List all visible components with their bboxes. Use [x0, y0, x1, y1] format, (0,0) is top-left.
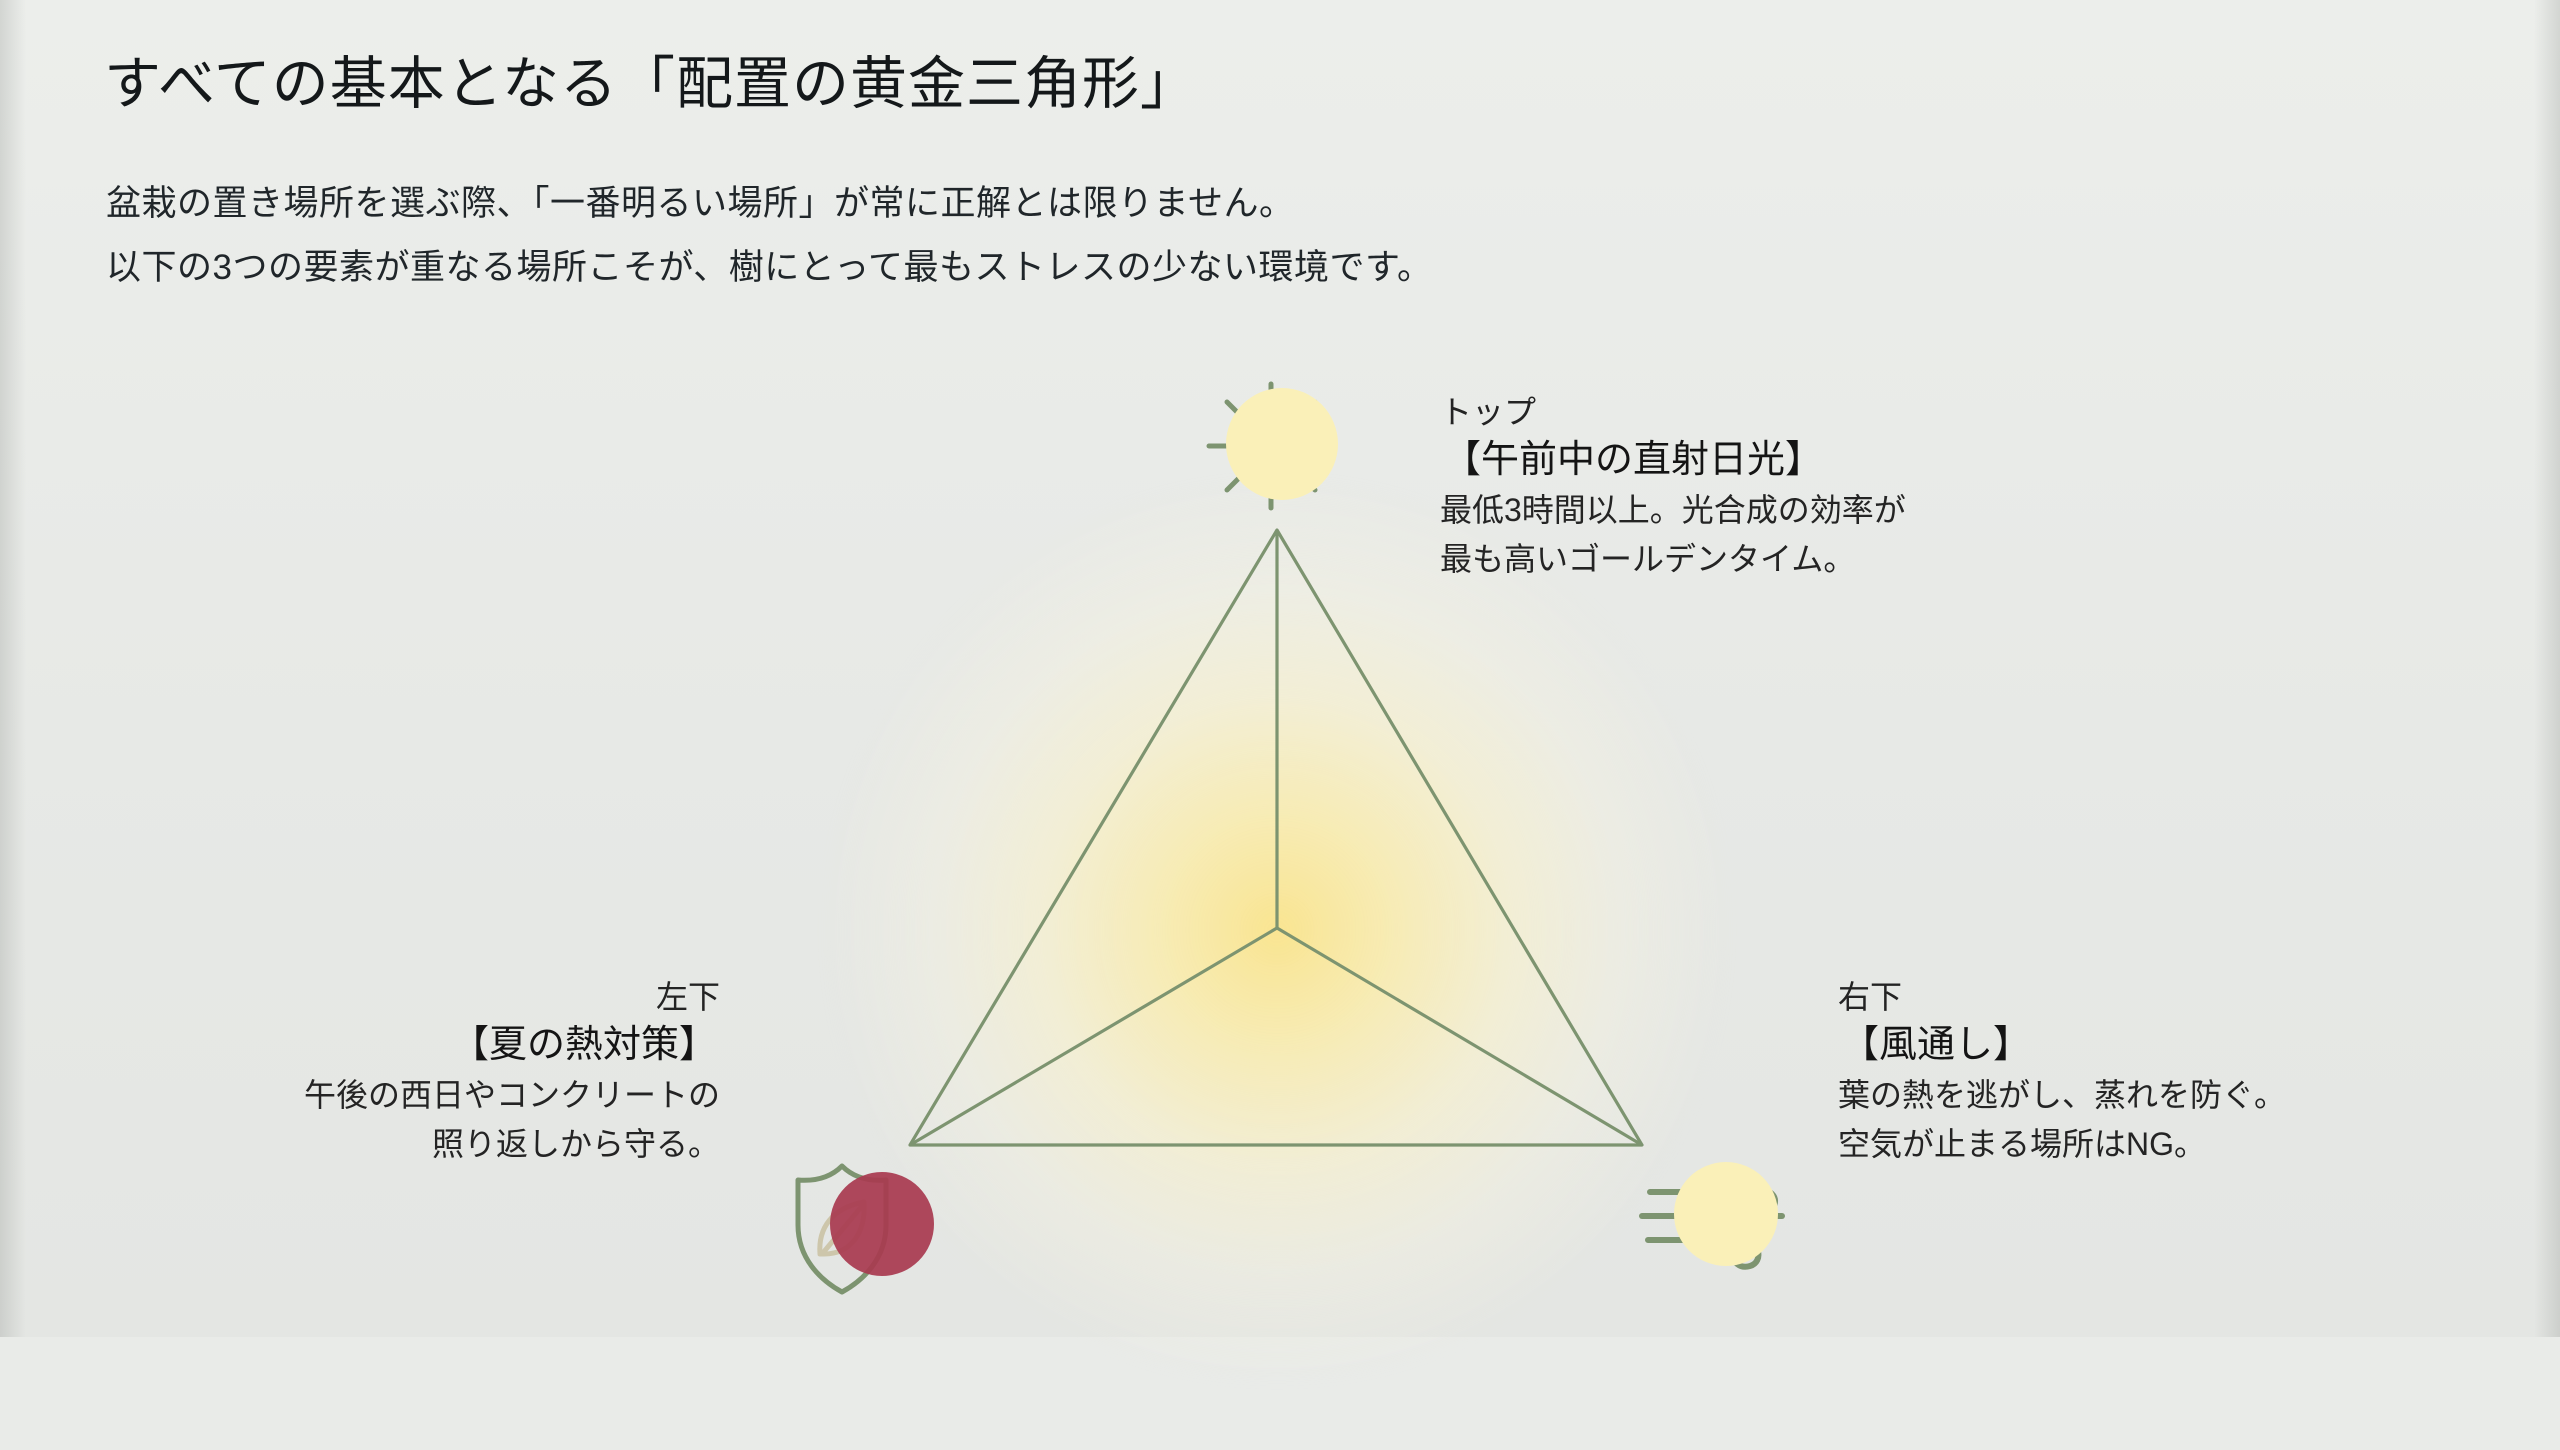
node-top-term: 【午前中の直射日光】	[1440, 434, 1826, 486]
left-edge-vignette	[0, 0, 26, 1337]
node-bl-kicker: 左下	[100, 975, 720, 1019]
node-bl-term-text: 【夏の熱対策】	[451, 1024, 717, 1066]
outer-triangle	[910, 530, 1642, 1145]
node-top-kicker: トップ	[1440, 390, 2180, 434]
wind-icon-disc	[1674, 1162, 1778, 1266]
node-top-desc-1: 最低3時間以上。光合成の効率が	[1440, 486, 2180, 535]
node-br-desc-2: 空気が止まる場所はNG。	[1838, 1120, 2518, 1169]
spoke-to-bottom-left	[910, 928, 1277, 1145]
page-subtitle: 盆栽の置き場所を選ぶ際、「一番明るい場所」が常に正解とは限りません。 以下の3つ…	[106, 172, 1432, 300]
sun-icon	[1190, 370, 1360, 530]
spoke-to-bottom-right	[1277, 928, 1642, 1145]
shield-leaf-glyph	[780, 1150, 940, 1310]
right-edge-vignette	[2534, 0, 2560, 1337]
node-br-kicker: 右下	[1838, 975, 2518, 1019]
node-label-top: トップ 【午前中の直射日光】 最低3時間以上。光合成の効率が 最も高いゴールデン…	[1440, 390, 2180, 584]
node-top-term-text: 【午前中の直射日光】	[1443, 439, 1823, 481]
node-bl-term: 【夏の熱対策】	[448, 1019, 720, 1071]
sun-icon-glyph	[1190, 370, 1360, 530]
node-bl-desc-1: 午後の西日やコンクリートの	[100, 1071, 720, 1120]
node-top-desc-2: 最も高いゴールデンタイム。	[1440, 535, 2180, 584]
node-br-desc-1: 葉の熱を逃がし、蒸れを防ぐ。	[1838, 1071, 2518, 1120]
node-br-term: 【風通し】	[1838, 1019, 2034, 1071]
heat-icon-disc	[830, 1172, 934, 1276]
wind-icon-glyph	[1632, 1150, 1822, 1300]
node-bl-desc-2: 照り返しから守る。	[100, 1120, 720, 1169]
node-label-bottom-left: 左下 【夏の熱対策】 午後の西日やコンクリートの 照り返しから守る。	[100, 975, 720, 1169]
subtitle-line-2: 以下の3つの要素が重なる場所こそが、樹にとって最もストレスの少ない環境です。	[106, 236, 1432, 300]
shield-leaf-icon	[780, 1150, 940, 1310]
subtitle-line-1: 盆栽の置き場所を選ぶ際、「一番明るい場所」が常に正解とは限りません。	[106, 172, 1432, 236]
node-br-term-text: 【風通し】	[1841, 1024, 2031, 1066]
node-label-bottom-right: 右下 【風通し】 葉の熱を逃がし、蒸れを防ぐ。 空気が止まる場所はNG。	[1838, 975, 2518, 1169]
page-title: すべての基本となる「配置の黄金三角形」	[104, 38, 1198, 120]
sun-icon-disc	[1226, 388, 1338, 500]
wind-icon	[1632, 1150, 1822, 1300]
